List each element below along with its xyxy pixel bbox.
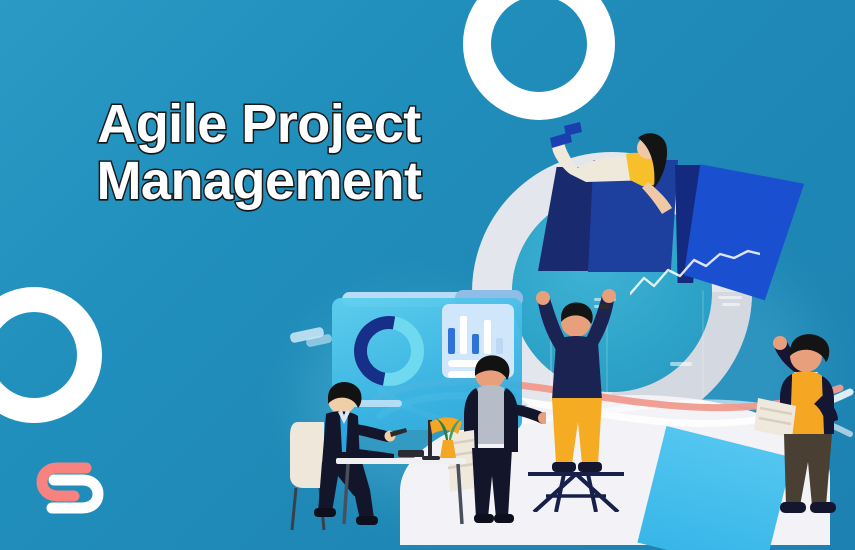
illustration-group bbox=[250, 0, 855, 550]
person-woman-lying-on-chart bbox=[526, 118, 686, 222]
person-man-with-paperwork-confused bbox=[748, 320, 855, 520]
micro-bar-4 bbox=[722, 303, 740, 306]
logo-mark-icon bbox=[34, 452, 106, 522]
banner-title-line-1: Agile Project bbox=[97, 94, 421, 154]
banner-title-line-2: Management bbox=[44, 153, 474, 210]
s-monogram-logo[interactable] bbox=[34, 452, 106, 522]
line-chart-squiggle bbox=[630, 248, 760, 300]
decorative-ring-left-icon bbox=[0, 287, 102, 423]
micro-bar-3 bbox=[718, 296, 742, 299]
banner-canvas: Agile Project Management bbox=[0, 0, 855, 550]
banner-title: Agile Project Management bbox=[44, 96, 474, 209]
person-man-seated-at-desk bbox=[290, 372, 476, 532]
